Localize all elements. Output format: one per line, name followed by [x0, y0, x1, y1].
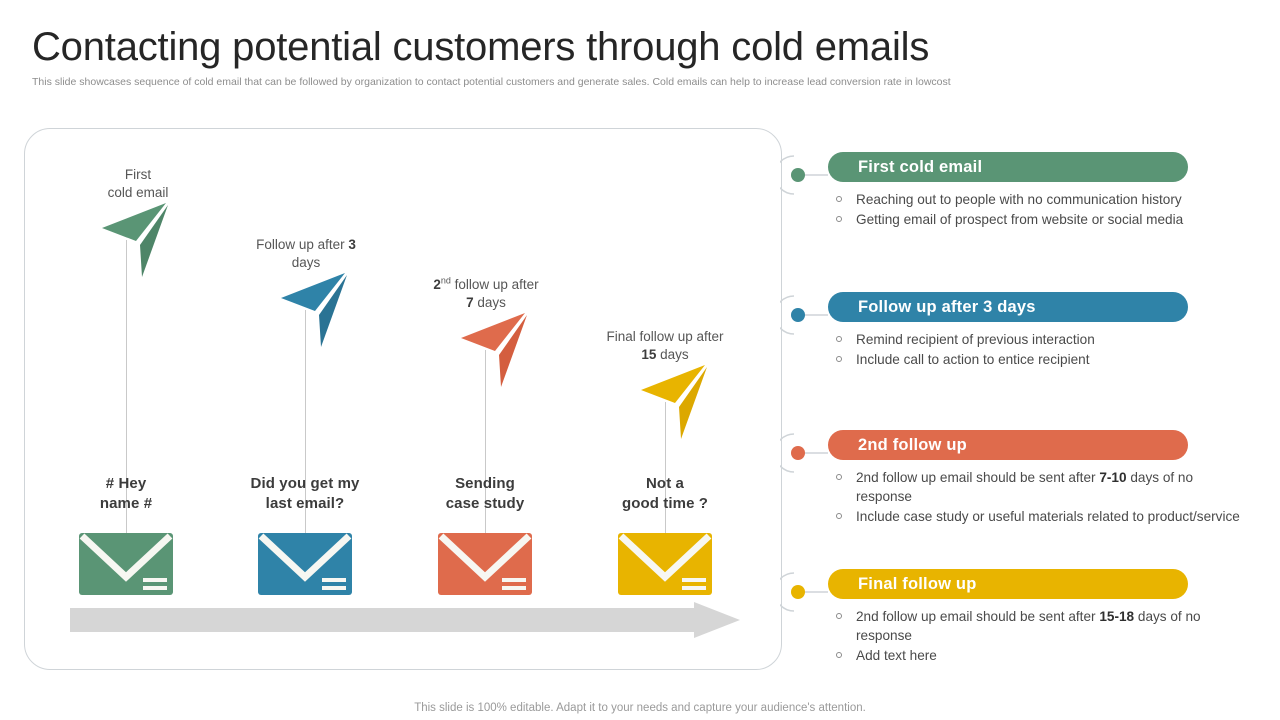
step-bullets-4: 2nd follow up email should be sent after…	[828, 607, 1248, 666]
plane-label-4-line2: days	[660, 347, 689, 362]
paper-plane-icon-3	[459, 311, 533, 387]
step-title-2[interactable]: Follow up after 3 days	[828, 292, 1188, 322]
envelope-label-1-line2: name #	[100, 495, 152, 512]
bullet-marker-icon	[836, 474, 842, 480]
plane-label-4-line1: Final follow up after	[606, 329, 723, 344]
bullet-marker-icon	[836, 196, 842, 202]
envelope-label-2-line2: last email?	[266, 495, 345, 512]
envelope-label-2-line1: Did you get my	[251, 475, 360, 492]
plane-label-3-bold: 7	[466, 295, 474, 310]
envelope-icon-1	[79, 533, 173, 595]
list-item: Remind recipient of previous interaction	[828, 330, 1248, 349]
list-item: Getting email of prospect from website o…	[828, 210, 1248, 229]
envelope-label-4-line1: Not a	[646, 475, 684, 492]
bullet-bold: 7-10	[1099, 470, 1126, 485]
plane-label-2-line2: days	[292, 255, 321, 270]
envelope-label-1: # Hey name #	[66, 474, 186, 514]
bullet-marker-icon	[836, 652, 842, 658]
plane-label-3-line1: follow up after	[455, 277, 539, 292]
paper-plane-icon-2	[279, 271, 353, 347]
plane-label-3-line2: days	[477, 295, 506, 310]
timeline-arrow-icon	[70, 602, 740, 638]
step-bullets-3: 2nd follow up email should be sent after…	[828, 468, 1248, 527]
page-title: Contacting potential customers through c…	[32, 24, 1248, 70]
list-item: 2nd follow up email should be sent after…	[828, 607, 1248, 645]
step-bullets-1: Reaching out to people with no communica…	[828, 190, 1248, 230]
envelope-icon-4	[618, 533, 712, 595]
page-subtitle: This slide showcases sequence of cold em…	[32, 76, 1242, 89]
envelope-icon-3	[438, 533, 532, 595]
step-title-4[interactable]: Final follow up	[828, 569, 1188, 599]
list-item: Include call to action to entice recipie…	[828, 350, 1248, 369]
plane-label-4-bold: 15	[641, 347, 656, 362]
envelope-icon-2	[258, 533, 352, 595]
bullet-marker-icon	[836, 216, 842, 222]
list-item: 2nd follow up email should be sent after…	[828, 468, 1248, 506]
list-item: Add text here	[828, 646, 1248, 665]
bullet-text: Include call to action to entice recipie…	[856, 352, 1090, 367]
bullet-bold: 15-18	[1099, 609, 1134, 624]
bullet-marker-icon	[836, 513, 842, 519]
plane-label-4: Final follow up after 15 days	[585, 328, 745, 364]
plane-label-2: Follow up after 3 days	[230, 236, 382, 272]
plane-label-2-line1: Follow up after	[256, 237, 348, 252]
bullet-marker-icon	[836, 336, 842, 342]
bullet-text: 2nd follow up email should be sent after	[856, 470, 1099, 485]
plane-label-1-line2: cold email	[108, 185, 169, 200]
bullet-marker-icon	[836, 613, 842, 619]
bullet-text: 2nd follow up email should be sent after	[856, 609, 1099, 624]
envelope-label-3-line2: case study	[446, 495, 525, 512]
envelope-label-3-line1: Sending	[455, 475, 515, 492]
list-item: Reaching out to people with no communica…	[828, 190, 1248, 209]
slide-root: Contacting potential customers through c…	[0, 0, 1280, 720]
plane-label-1-line1: First	[125, 167, 151, 182]
envelope-label-4: Not a good time ?	[600, 474, 730, 514]
plane-label-3-prefix: 2	[433, 277, 441, 292]
bullet-text: Remind recipient of previous interaction	[856, 332, 1095, 347]
envelope-label-4-line2: good time ?	[622, 495, 708, 512]
paper-plane-icon-1	[100, 201, 174, 277]
plane-label-3-sup: nd	[441, 276, 451, 286]
step-title-1[interactable]: First cold email	[828, 152, 1188, 182]
envelope-label-2: Did you get my last email?	[235, 474, 375, 514]
envelope-label-1-line1: # Hey	[106, 475, 147, 492]
plane-label-1: First cold email	[78, 166, 198, 202]
footer-note: This slide is 100% editable. Adapt it to…	[0, 702, 1280, 714]
step-title-3[interactable]: 2nd follow up	[828, 430, 1188, 460]
bullet-text: Add text here	[856, 648, 937, 663]
bullet-text: Getting email of prospect from website o…	[856, 212, 1183, 227]
step-bullets-2: Remind recipient of previous interaction…	[828, 330, 1248, 370]
list-item: Include case study or useful materials r…	[828, 507, 1248, 526]
plane-label-2-bold: 3	[348, 237, 356, 252]
paper-plane-icon-4	[639, 363, 713, 439]
bullet-text: Reaching out to people with no communica…	[856, 192, 1182, 207]
envelope-label-3: Sending case study	[420, 474, 550, 514]
bullet-marker-icon	[836, 356, 842, 362]
bullet-text: Include case study or useful materials r…	[856, 509, 1240, 524]
plane-label-3: 2nd follow up after 7 days	[408, 276, 564, 312]
